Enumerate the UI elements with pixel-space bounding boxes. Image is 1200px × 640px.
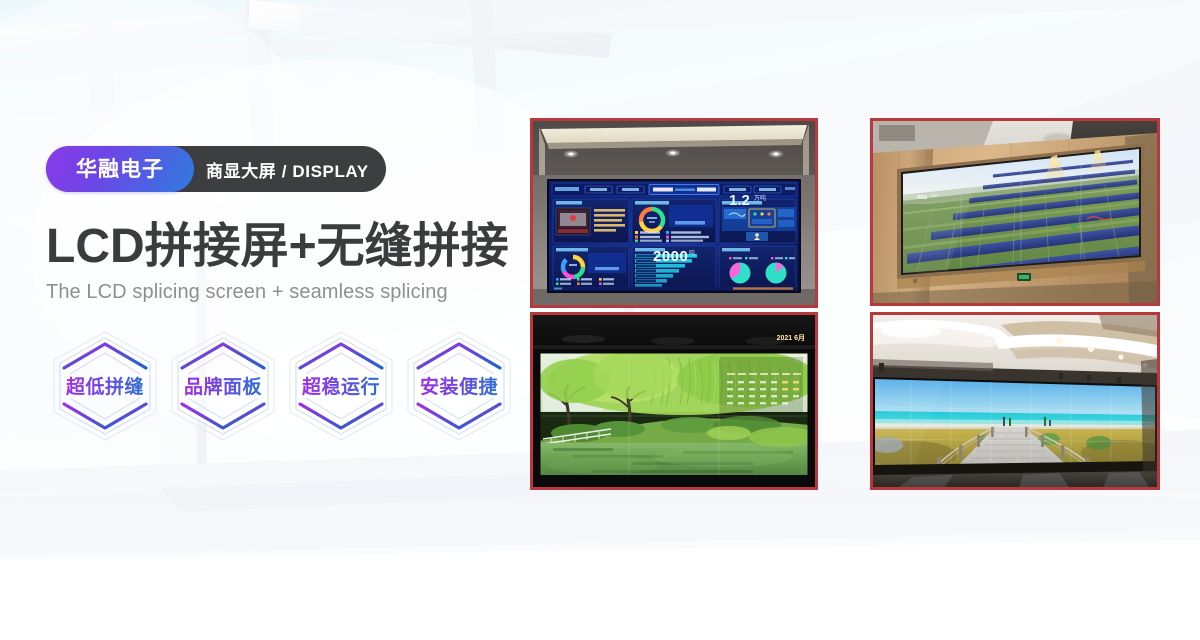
feature-list: 超低拼缝 品牌面板 [46, 330, 566, 442]
page-title: LCD拼接屏+无缝拼接 [46, 221, 566, 273]
feature-item-0: 超低拼缝 [46, 330, 164, 442]
feature-item-3: 安装便捷 [400, 330, 518, 442]
dashboard-big-number: 1.2 [729, 193, 750, 208]
brand-name-text: 华融电子 [76, 159, 164, 180]
feature-item-1: 品牌面板 [164, 330, 282, 442]
brand-name-pill: 华融电子 [46, 146, 194, 192]
feature-label: 超稳运行 [302, 372, 380, 399]
product-photo-solar-wall [870, 118, 1160, 306]
feature-label: 安装便捷 [420, 372, 498, 399]
solar-wall-image [873, 121, 1157, 303]
page-subtitle: The LCD splicing screen + seamless splic… [46, 281, 566, 304]
dashboard-second-number: 2000 [653, 249, 688, 264]
dashboard-big-number-unit: 万吨 [754, 196, 766, 202]
beach-wall-image [873, 315, 1157, 487]
dashboard-second-number-unit: 吨 [689, 251, 695, 257]
feature-label: 超低拼缝 [66, 372, 144, 399]
lake-wall-image [533, 315, 815, 487]
brand-category-text: 商显大屏 / DISPLAY [206, 146, 369, 192]
calendar-overlay-label: 2021 6月 [777, 333, 805, 343]
product-photo-dashboard: 1.2 万吨 2000 吨 [530, 118, 818, 308]
product-photo-lake-wall: 2021 6月 [530, 312, 818, 490]
feature-label: 品牌面板 [184, 372, 262, 399]
hero-text-column: 华融电子 商显大屏 / DISPLAY LCD拼接屏+无缝拼接 The LCD … [46, 146, 566, 442]
promo-banner: 华融电子 商显大屏 / DISPLAY LCD拼接屏+无缝拼接 The LCD … [0, 0, 1200, 640]
feature-item-2: 超稳运行 [282, 330, 400, 442]
dashboard-room-image [533, 121, 815, 305]
product-photo-beach-wall [870, 312, 1160, 490]
